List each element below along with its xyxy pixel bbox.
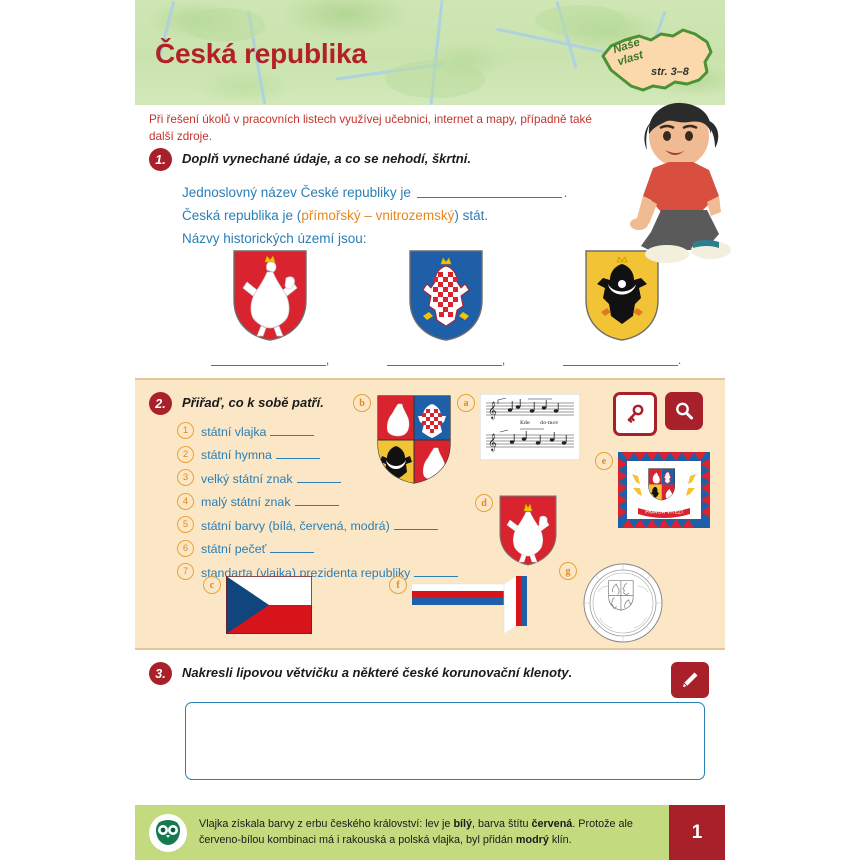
list-item: 6 státní pečeť — [177, 540, 507, 557]
item-number: 6 — [177, 540, 194, 557]
item-label: malý státní znak — [201, 493, 339, 509]
page-title: Česká republika — [155, 38, 367, 70]
pencil-icon[interactable] — [671, 662, 709, 698]
exercise-3-instruction: Nakresli lipovou větvičku a některé česk… — [182, 662, 572, 680]
worksheet-sheet: Česká republika Naše vlast str. 3–8 Při … — [135, 0, 725, 860]
historic-lands-blanks: , , . — [182, 353, 712, 366]
historic-land-blank-1[interactable] — [211, 353, 326, 366]
item-label: státní hymna — [201, 446, 320, 462]
ex1-line1-label: Jednoslovný název České republiky je — [182, 185, 411, 200]
worksheet-page: Česká republika Naše vlast str. 3–8 Při … — [0, 0, 860, 860]
exercise-1-number: 1. — [149, 148, 172, 171]
picture-a-group: a 𝄞 𝄞 — [457, 394, 580, 460]
standard-motto: PRAVDA VÍTĚZÍ — [645, 508, 683, 516]
footer-note: Vlajka získala barvy z erbu českého král… — [135, 805, 669, 860]
music-caption-2: do-mov — [540, 420, 559, 426]
footer-text: Vlajka získala barvy z erbu českého král… — [199, 817, 669, 848]
chapter-badge: Naše vlast str. 3–8 — [595, 20, 715, 98]
blank-cell-2: , — [358, 353, 534, 366]
item-answer-blank[interactable] — [276, 446, 320, 459]
list-item: 4 malý státní znak — [177, 493, 507, 510]
small-state-emblem-image[interactable] — [498, 494, 558, 568]
page-footer: Vlajka získala barvy z erbu českého král… — [135, 805, 725, 860]
footer-bold-3: modrý — [516, 834, 549, 846]
tool-icon-group — [613, 392, 703, 436]
sheet-music-anthem-image[interactable]: 𝄞 𝄞 Kde — [480, 394, 580, 460]
exercise-2: 2. Přiřaď, co k sobě patří. 1 státní vla… — [135, 378, 725, 650]
picture-tag-e: e — [595, 452, 613, 470]
presidential-standard-image[interactable]: PRAVDA VÍTĚZÍ — [618, 452, 710, 528]
picture-tag-b: b — [353, 394, 371, 412]
exercise-1-instruction: Doplň vynechané údaje, a co se nehodí, š… — [182, 148, 471, 166]
blank-punct-1: , — [326, 353, 330, 366]
ex1-option-vnitrozemsky[interactable]: vnitrozemský — [376, 208, 455, 223]
item-label: státní vlajka — [201, 423, 314, 439]
list-item: 5 státní barvy (bílá, červená, modrá) — [177, 516, 507, 533]
picture-g-group: g — [559, 562, 664, 644]
blank-punct-3: . — [678, 353, 682, 366]
state-seal-image[interactable] — [582, 562, 664, 644]
page-header: Česká republika Naše vlast str. 3–8 — [135, 0, 725, 105]
czech-flag-image[interactable] — [226, 576, 312, 634]
picture-tag-f: f — [389, 576, 407, 594]
owl-icon — [149, 814, 187, 852]
item-label: státní barvy (bílá, červená, modrá) — [201, 517, 438, 533]
ex1-answer-blank-1[interactable] — [417, 184, 562, 198]
kneeling-boy-illustration — [615, 100, 745, 265]
ex3-text-1: Nakresli — [182, 665, 236, 680]
item-answer-blank[interactable] — [297, 470, 341, 483]
picture-tag-c: c — [203, 576, 221, 594]
great-state-emblem-image[interactable] — [376, 394, 452, 484]
moravia-arm-cell — [358, 248, 534, 343]
badge-pages: str. 3–8 — [651, 66, 689, 78]
svg-text:𝄞: 𝄞 — [488, 401, 497, 419]
item-number: 1 — [177, 422, 194, 439]
page-number: 1 — [669, 805, 725, 860]
item-number: 4 — [177, 493, 194, 510]
ex1-line2-label: Česká republika je ( — [182, 208, 301, 223]
item-label: velký státní znak — [201, 470, 341, 486]
ex1-line1-period: . — [564, 185, 568, 200]
svg-text:𝄞: 𝄞 — [488, 433, 497, 451]
footer-text-2: , barva štítu — [472, 818, 531, 830]
item-answer-blank[interactable] — [295, 493, 339, 506]
magnifier-glyph — [674, 401, 694, 421]
state-colours-ribbon-image[interactable] — [412, 576, 527, 634]
exercise-3-number: 3. — [149, 662, 172, 685]
item-answer-blank[interactable] — [270, 423, 314, 436]
exercise-2-header: 2. Přiřaď, co k sobě patří. — [149, 392, 324, 415]
blank-punct-2: , — [502, 353, 506, 366]
list-item: 3 velký státní znak — [177, 469, 507, 486]
item-answer-blank[interactable] — [270, 540, 314, 553]
picture-f-group: f — [389, 576, 527, 634]
footer-bold-2: červená — [531, 818, 572, 830]
footer-text-4: klín. — [549, 834, 572, 846]
exercise-3: 3. Nakresli lipovou větvičku a některé č… — [149, 662, 709, 685]
item-answer-blank[interactable] — [414, 564, 458, 577]
ex3-text-2: a některé — [338, 665, 402, 680]
historic-land-blank-2[interactable] — [387, 353, 502, 366]
ex1-option-primorsky[interactable]: přímořský — [301, 208, 360, 223]
blank-cell-3: . — [534, 353, 710, 366]
ex1-line2-suffix: ) stát. — [454, 208, 488, 223]
exercise-2-instruction: Přiřaď, co k sobě patří. — [182, 392, 324, 410]
footer-bold-1: bílý — [453, 818, 472, 830]
key-glyph — [625, 404, 645, 424]
ex3-bold-1: lipovou větvičku — [236, 665, 338, 680]
owl-glyph — [153, 819, 183, 847]
picture-b-group: b — [353, 394, 452, 484]
pencil-glyph — [680, 670, 700, 690]
historic-land-blank-3[interactable] — [563, 353, 678, 366]
item-number: 7 — [177, 563, 194, 580]
search-icon[interactable] — [665, 392, 703, 430]
exercise-3-header: 3. Nakresli lipovou větvičku a některé č… — [149, 662, 709, 685]
terrain-blob — [385, 60, 485, 98]
ex1-option-dash: – — [361, 208, 376, 223]
picture-tag-a: a — [457, 394, 475, 412]
item-number: 2 — [177, 446, 194, 463]
key-icon[interactable] — [613, 392, 657, 436]
ex3-text-3: . — [569, 665, 573, 680]
item-number: 5 — [177, 516, 194, 533]
item-answer-blank[interactable] — [394, 517, 438, 530]
picture-e-group: e — [595, 452, 710, 528]
blank-cell-1: , — [182, 353, 358, 366]
moravia-coat-of-arms — [407, 248, 485, 343]
czech-republic-map-icon — [595, 20, 715, 98]
footer-text-1: Vlajka získala barvy z erbu českého král… — [199, 818, 453, 830]
bohemia-arm-cell — [182, 248, 358, 343]
drawing-area[interactable] — [185, 702, 705, 780]
bohemia-coat-of-arms — [231, 248, 309, 343]
ex3-bold-2: české korunovační klenoty — [402, 665, 568, 680]
exercise-2-number: 2. — [149, 392, 172, 415]
picture-c-group: c — [203, 576, 312, 634]
picture-tag-d: d — [475, 494, 493, 512]
item-label: státní pečeť — [201, 540, 314, 556]
picture-tag-g: g — [559, 562, 577, 580]
picture-d-group: d — [475, 494, 558, 568]
item-number: 3 — [177, 469, 194, 486]
music-caption-1: Kde — [520, 420, 530, 426]
terrain-blob — [185, 8, 265, 42]
intro-text: Při řešení úkolů v pracovních listech vy… — [149, 112, 599, 146]
